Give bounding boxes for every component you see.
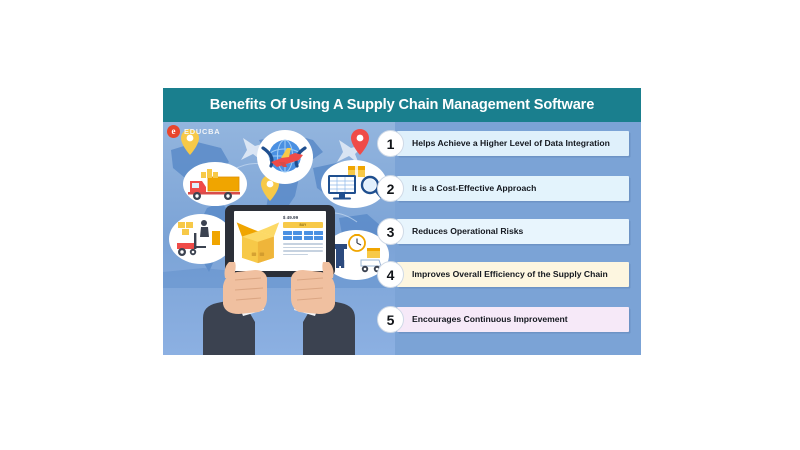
benefit-text-3: Reduces Operational Risks (397, 219, 629, 244)
hands-holding-tablet (163, 122, 395, 355)
benefit-row-3[interactable]: 3 Reduces Operational Risks (377, 218, 629, 245)
benefit-row-4[interactable]: 4 Improves Overall Efficiency of the Sup… (377, 261, 629, 288)
infographic-header: Benefits Of Using A Supply Chain Managem… (163, 88, 641, 122)
benefit-row-5[interactable]: 5 Encourages Continuous Improvement (377, 306, 629, 333)
benefit-number-1: 1 (377, 130, 404, 157)
benefit-number-4: 4 (377, 261, 404, 288)
benefit-text-2: It is a Cost-Effective Approach (397, 176, 629, 201)
benefits-list: 1 Helps Achieve a Higher Level of Data I… (377, 130, 641, 350)
benefit-row-2[interactable]: 2 It is a Cost-Effective Approach (377, 175, 629, 202)
benefit-text-1: Helps Achieve a Higher Level of Data Int… (397, 131, 629, 156)
benefit-text-5: Encourages Continuous Improvement (397, 307, 629, 332)
infographic-card: Benefits Of Using A Supply Chain Managem… (163, 88, 641, 355)
benefit-row-1[interactable]: 1 Helps Achieve a Higher Level of Data I… (377, 130, 629, 157)
educba-e-icon: e (167, 125, 180, 138)
screenshot-canvas: Benefits Of Using A Supply Chain Managem… (0, 0, 800, 450)
benefit-number-5: 5 (377, 306, 404, 333)
benefit-number-3: 3 (377, 218, 404, 245)
page-title: Benefits Of Using A Supply Chain Managem… (210, 97, 594, 113)
benefit-number-2: 2 (377, 175, 404, 202)
benefit-text-4: Improves Overall Efficiency of the Suppl… (397, 262, 629, 287)
educba-wordmark: EDUCBA (184, 127, 220, 136)
infographic-body: e EDUCBA (163, 122, 641, 355)
illustration-panel: e EDUCBA (163, 122, 395, 355)
educba-logo: e EDUCBA (167, 125, 220, 138)
